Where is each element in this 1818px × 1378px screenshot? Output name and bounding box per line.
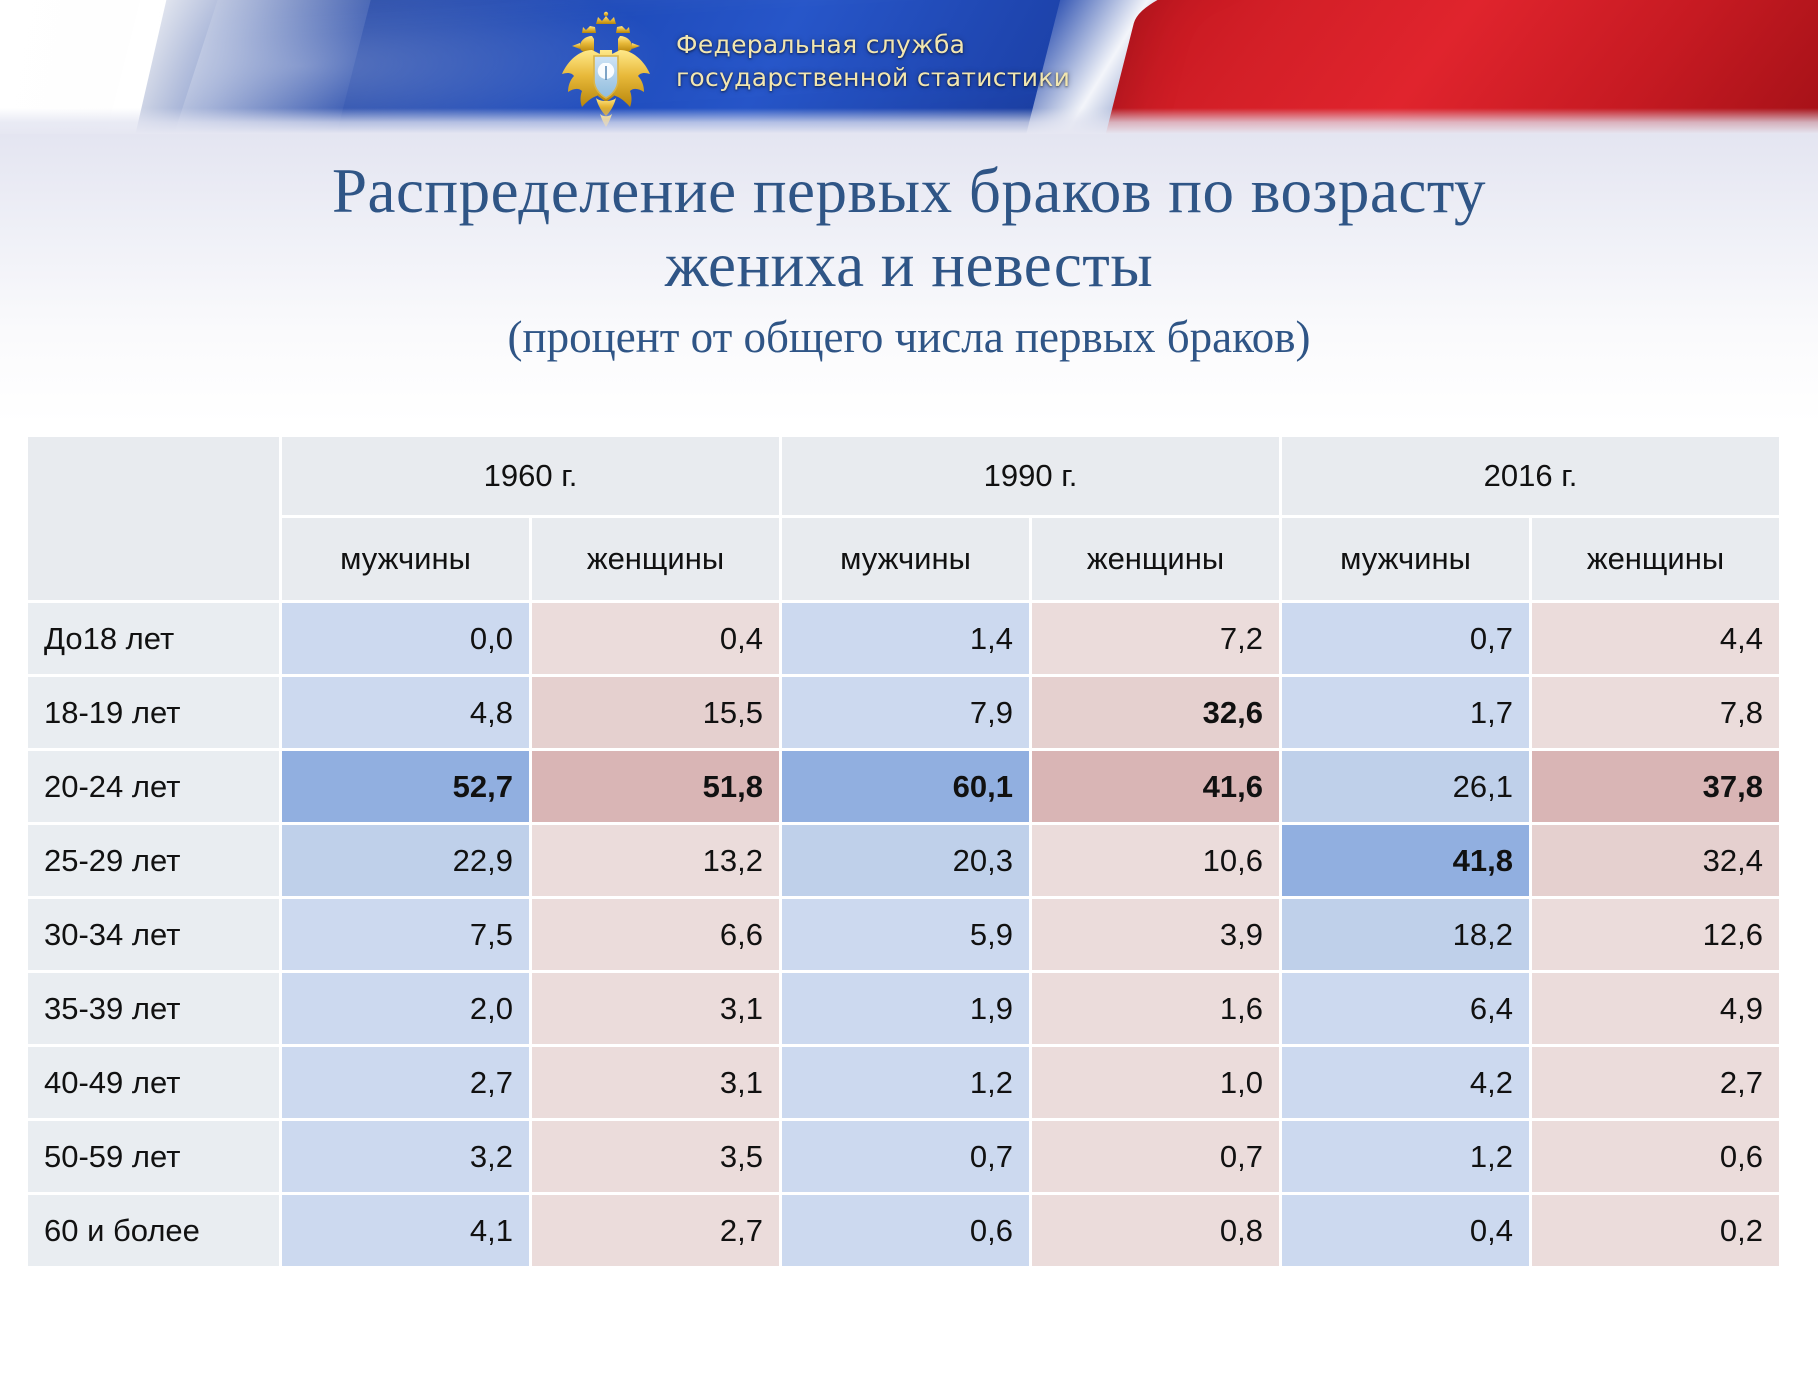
row-label-age-group: 50-59 лет [28,1121,279,1192]
data-cell: 1,4 [782,603,1029,674]
data-cell: 1,7 [1282,677,1529,748]
data-cell: 1,0 [1032,1047,1279,1118]
data-cell: 60,1 [782,751,1029,822]
data-cell: 22,9 [282,825,529,896]
page-title: Распределение первых браков по возрасту … [0,134,1818,302]
data-cell: 3,9 [1032,899,1279,970]
data-cell: 2,7 [532,1195,779,1266]
header-year-1990: 1990 г. [782,437,1279,515]
table-head: 1960 г. 1990 г. 2016 г. мужчины женщины … [28,437,1779,600]
data-cell: 32,6 [1032,677,1279,748]
table-body: До18 лет0,00,41,47,20,74,418-19 лет4,815… [28,603,1779,1266]
row-label-age-group: 60 и более [28,1195,279,1266]
data-cell: 1,2 [1282,1121,1529,1192]
data-cell: 7,2 [1032,603,1279,674]
data-cell: 0,4 [532,603,779,674]
data-cell: 37,8 [1532,751,1779,822]
row-label-age-group: 30-34 лет [28,899,279,970]
header-sex-1960-female: женщины [532,518,779,600]
header-sex-1990-female: женщины [1032,518,1279,600]
row-label-age-group: 25-29 лет [28,825,279,896]
data-cell: 41,8 [1282,825,1529,896]
data-cell: 3,5 [532,1121,779,1192]
data-cell: 15,5 [532,677,779,748]
header-banner: Федеральная служба государственной стати… [0,0,1818,134]
data-cell: 1,9 [782,973,1029,1044]
data-cell: 0,4 [1282,1195,1529,1266]
banner-bottom-fade [0,108,1818,134]
data-cell: 0,2 [1532,1195,1779,1266]
data-cell: 4,1 [282,1195,529,1266]
page-subtitle: (процент от общего числа первых браков) [0,309,1818,365]
row-label-age-group: 18-19 лет [28,677,279,748]
data-cell: 4,4 [1532,603,1779,674]
data-cell: 20,3 [782,825,1029,896]
data-cell: 26,1 [1282,751,1529,822]
data-cell: 0,7 [1032,1121,1279,1192]
table-row: 60 и более4,12,70,60,80,40,2 [28,1195,1779,1266]
data-cell: 3,2 [282,1121,529,1192]
data-cell: 12,6 [1532,899,1779,970]
data-cell: 0,6 [1532,1121,1779,1192]
organization-name: Федеральная служба государственной стати… [676,28,1196,94]
table-row: 40-49 лет2,73,11,21,04,22,7 [28,1047,1779,1118]
data-cell: 52,7 [282,751,529,822]
table-row: 50-59 лет3,23,50,70,71,20,6 [28,1121,1779,1192]
data-cell: 41,6 [1032,751,1279,822]
data-table-wrapper: 1960 г. 1990 г. 2016 г. мужчины женщины … [25,434,1777,1269]
table-row: 25-29 лет22,913,220,310,641,832,4 [28,825,1779,896]
data-cell: 18,2 [1282,899,1529,970]
data-cell: 2,7 [282,1047,529,1118]
data-cell: 0,7 [782,1121,1029,1192]
header-sex-1960-male: мужчины [282,518,529,600]
org-name-line1: Федеральная служба [676,30,965,59]
data-cell: 6,6 [532,899,779,970]
header-sex-2016-male: мужчины [1282,518,1529,600]
table-row: 20-24 лет52,751,860,141,626,137,8 [28,751,1779,822]
data-cell: 2,7 [1532,1047,1779,1118]
table-row: 30-34 лет7,56,65,93,918,212,6 [28,899,1779,970]
data-cell: 10,6 [1032,825,1279,896]
data-cell: 4,9 [1532,973,1779,1044]
data-cell: 6,4 [1282,973,1529,1044]
org-name-line2: государственной статистики [676,61,1196,94]
data-cell: 3,1 [532,1047,779,1118]
header-row-sex: мужчины женщины мужчины женщины мужчины … [28,518,1779,600]
row-label-age-group: До18 лет [28,603,279,674]
data-cell: 0,0 [282,603,529,674]
header-sex-1990-male: мужчины [782,518,1029,600]
header-sex-2016-female: женщины [1532,518,1779,600]
data-cell: 7,8 [1532,677,1779,748]
data-cell: 0,6 [782,1195,1029,1266]
data-cell: 32,4 [1532,825,1779,896]
data-cell: 51,8 [532,751,779,822]
data-cell: 7,9 [782,677,1029,748]
data-cell: 0,8 [1032,1195,1279,1266]
table-row: До18 лет0,00,41,47,20,74,4 [28,603,1779,674]
title-block: Распределение первых браков по возрасту … [0,134,1818,424]
data-cell: 5,9 [782,899,1029,970]
table-corner-cell [28,437,279,600]
data-cell: 4,8 [282,677,529,748]
marriage-age-distribution-table: 1960 г. 1990 г. 2016 г. мужчины женщины … [25,434,1782,1269]
data-cell: 13,2 [532,825,779,896]
data-cell: 0,7 [1282,603,1529,674]
data-cell: 1,6 [1032,973,1279,1044]
table-row: 18-19 лет4,815,57,932,61,77,8 [28,677,1779,748]
header-year-2016: 2016 г. [1282,437,1779,515]
data-cell: 2,0 [282,973,529,1044]
data-cell: 4,2 [1282,1047,1529,1118]
row-label-age-group: 20-24 лет [28,751,279,822]
row-label-age-group: 40-49 лет [28,1047,279,1118]
data-cell: 7,5 [282,899,529,970]
header-year-1960: 1960 г. [282,437,779,515]
row-label-age-group: 35-39 лет [28,973,279,1044]
data-cell: 3,1 [532,973,779,1044]
header-row-years: 1960 г. 1990 г. 2016 г. [28,437,1779,515]
table-row: 35-39 лет2,03,11,91,66,44,9 [28,973,1779,1044]
data-cell: 1,2 [782,1047,1029,1118]
